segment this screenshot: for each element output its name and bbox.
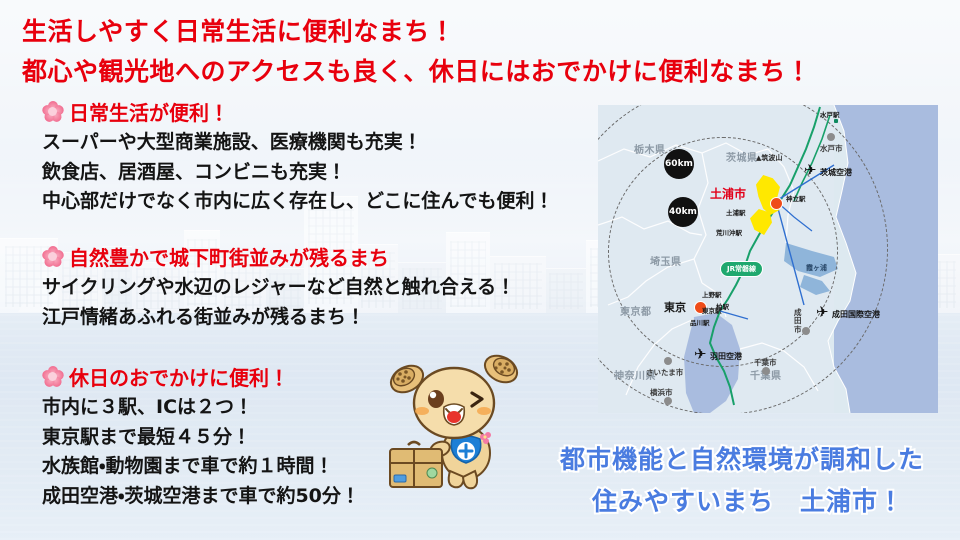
tagline-line-1: 都市機能と自然環境が調和した [560, 440, 924, 476]
map-station-mito: 水戸駅 [820, 109, 840, 119]
section-line: 市内に３駅、ICは２つ！ [42, 395, 360, 420]
section-heading: 自然豊かで城下町街並みが残るまち [42, 242, 515, 271]
map-station-dot-mito [834, 119, 838, 123]
section-line: サイクリングや水辺のレジャーなど自然と触れ合える！ [42, 275, 515, 300]
section-line: 成田空港・茨城空港まで車で約50分！ [42, 484, 360, 509]
map-city-yokohama: 横浜市 [650, 387, 673, 398]
mascot-head [414, 368, 494, 438]
map-landmark-mt-tsukuba: ▲筑波山 [756, 153, 782, 163]
section-line: 江戸情緒あふれる街並みが残るまち！ [42, 305, 515, 330]
map-city-dot-chiba [762, 367, 770, 375]
map-focus-dot-tsuchiura [770, 197, 783, 210]
map-station-shinagawa: 品川駅 [690, 317, 710, 327]
section-heading: 日常生活が便利！ [42, 97, 553, 126]
map-city-saitama: さいたま市 [646, 367, 683, 378]
tagline-line-2: 住みやすいまち 土浦市！ [592, 482, 904, 518]
section-heading: 休日のおでかけに便利！ [42, 362, 360, 391]
headline-primary: 生活しやすく日常生活に便利なまち！ [22, 12, 455, 48]
plum-blossom-icon [42, 246, 63, 267]
map-station-tokyo: 東京駅 [702, 305, 722, 315]
mascot-suitcase [390, 442, 442, 487]
map-prefecture-tochigi: 栃木県 [634, 141, 666, 156]
regional-access-map: 60km 40km ▲筑波山 霞ヶ浦 栃木県 茨城県 埼玉県 東京都 千葉県 神 [598, 105, 938, 413]
airplane-icon-ibaraki: ✈ [804, 163, 817, 178]
section-nature-castletown: 自然豊かで城下町街並みが残るまち サイクリングや水辺のレジャーなど自然と触れ合え… [42, 242, 515, 334]
map-city-dot-yokohama [664, 397, 672, 405]
section-daily-life: 日常生活が便利！ スーパーや大型商業施設、医療機関も充実！ 飲食店、居酒屋、コン… [42, 97, 553, 219]
map-capital-tokyo: 東京 [664, 299, 686, 315]
map-city-narita: 成田市 [794, 309, 804, 334]
mascot-character-tsunyan [380, 345, 540, 495]
section-holiday-access: 休日のおでかけに便利！ 市内に３駅、ICは２つ！ 東京駅まで最短４５分！ 水族館… [42, 362, 360, 514]
plum-blossom-icon [42, 366, 63, 387]
map-prefecture-ibaraki: 茨城県 [726, 149, 758, 164]
section-line: スーパーや大型商業施設、医療機関も充実！ [42, 130, 553, 155]
map-station-arakawaoki: 荒川沖駅 [716, 227, 742, 237]
plum-blossom-icon [42, 101, 63, 122]
map-station-tsuchiura: 土浦駅 [726, 207, 746, 217]
section-line: 飲食店、居酒屋、コンビニも充実！ [42, 160, 553, 185]
map-landmark-kasumigaura: 霞ヶ浦 [806, 263, 827, 273]
section-line: 中心部だけでなく市内に広く存在し、どこに住んでも便利！ [42, 189, 553, 214]
map-station-kandatsu: 神立駅 [786, 193, 806, 203]
section-heading-label: 日常生活が便利！ [69, 97, 229, 126]
airplane-icon-haneda: ✈ [694, 347, 707, 362]
airplane-icon-narita: ✈ [816, 305, 829, 320]
map-station-ueno: 上野駅 [702, 289, 722, 299]
map-airport-narita: 成田国際空港 [832, 309, 880, 320]
map-focus-city-tsuchiura: 土浦市 [710, 185, 746, 202]
map-airport-ibaraki: 茨城空港 [820, 167, 852, 178]
section-heading-label: 自然豊かで城下町街並みが残るまち [69, 242, 389, 271]
map-prefecture-saitama: 埼玉県 [650, 253, 682, 268]
map-prefecture-tokyo: 東京都 [620, 303, 652, 318]
map-city-dot-mito [827, 133, 835, 141]
headline-secondary: 都心や観光地へのアクセスも良く、休日にはおでかけに便利なまち！ [22, 52, 811, 88]
section-line: 水族館・動物園まで車で約１時間！ [42, 454, 360, 479]
map-city-mito: 水戸市 [820, 143, 843, 154]
map-airport-haneda: 羽田空港 [710, 351, 742, 362]
map-city-chiba: 千葉市 [754, 357, 777, 368]
section-line: 東京駅まで最短４５分！ [42, 425, 360, 450]
map-rail-label-jr-joban: JR常磐線 [720, 261, 763, 277]
section-heading-label: 休日のおでかけに便利！ [69, 362, 289, 391]
map-city-dot-saitama [664, 357, 672, 365]
slide-canvas: 生活しやすく日常生活に便利なまち！ 都心や観光地へのアクセスも良く、休日にはおで… [0, 0, 960, 540]
